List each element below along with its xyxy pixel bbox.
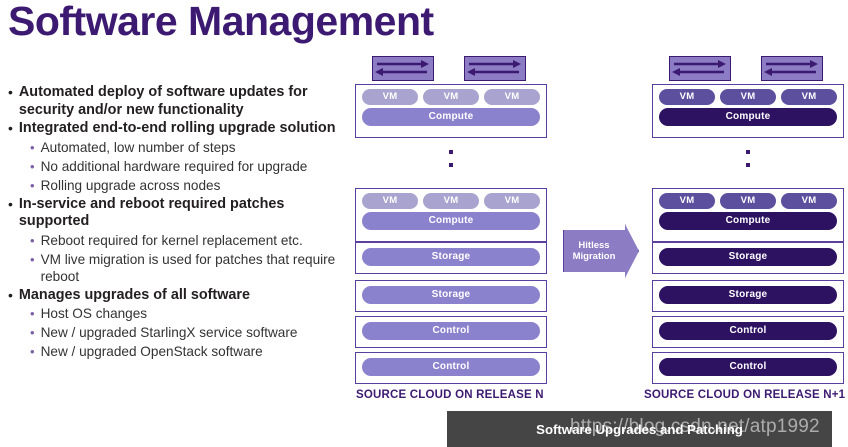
storage-bar: Storage bbox=[659, 248, 837, 266]
node-control: Control bbox=[652, 316, 844, 348]
vm-pill: VM bbox=[720, 193, 776, 209]
hitless-migration-line1: Hitless bbox=[578, 240, 609, 251]
compute-bar: Compute bbox=[362, 108, 540, 126]
node-compute: VMVMVMCompute bbox=[355, 84, 547, 138]
node-storage: Storage bbox=[355, 280, 547, 312]
bidirectional-arrow-icon bbox=[762, 57, 820, 79]
node-storage: Storage bbox=[652, 280, 844, 312]
vm-pill: VM bbox=[423, 193, 479, 209]
traffic-arrows-left bbox=[355, 56, 551, 82]
storage-bar: Storage bbox=[362, 248, 540, 266]
vm-pill: VM bbox=[659, 193, 715, 209]
traffic-arrows-right bbox=[652, 56, 848, 82]
traffic-arrow-box-icon bbox=[669, 56, 731, 81]
control-bar: Control bbox=[362, 322, 540, 340]
footer-bar: Software Upgrades and Patching bbox=[447, 411, 832, 447]
vm-pill: VM bbox=[781, 193, 837, 209]
compute-bar: Compute bbox=[659, 212, 837, 230]
footer-title: Software Upgrades and Patching bbox=[447, 411, 832, 447]
vm-pill: VM bbox=[781, 89, 837, 105]
compute-bar: Compute bbox=[362, 212, 540, 230]
vm-row: VMVMVM bbox=[653, 85, 843, 105]
traffic-arrow-box-icon bbox=[761, 56, 823, 81]
bidirectional-arrow-icon bbox=[373, 57, 431, 79]
caption-source-cloud-release-n: SOURCE CLOUD ON RELEASE N bbox=[356, 389, 544, 401]
vm-pill: VM bbox=[484, 89, 540, 105]
node-control: Control bbox=[652, 352, 844, 384]
vm-pill: VM bbox=[362, 89, 418, 105]
node-storage: Storage bbox=[652, 242, 844, 274]
node-compute: VMVMVMCompute bbox=[652, 84, 844, 138]
control-bar: Control bbox=[362, 358, 540, 376]
software-upgrade-diagram: VMVMVMComputeVMVMVMComputeStorageStorage… bbox=[0, 0, 848, 447]
vm-row: VMVMVM bbox=[356, 85, 546, 105]
storage-bar: Storage bbox=[659, 286, 837, 304]
node-compute: VMVMVMCompute bbox=[652, 188, 844, 242]
vm-pill: VM bbox=[659, 89, 715, 105]
compute-bar: Compute bbox=[659, 108, 837, 126]
vm-row: VMVMVM bbox=[653, 189, 843, 209]
node-control: Control bbox=[355, 316, 547, 348]
vm-pill: VM bbox=[720, 89, 776, 105]
node-compute: VMVMVMCompute bbox=[355, 188, 547, 242]
traffic-arrow-box-icon bbox=[464, 56, 526, 81]
node-storage: Storage bbox=[355, 242, 547, 274]
bidirectional-arrow-icon bbox=[465, 57, 523, 79]
storage-bar: Storage bbox=[362, 286, 540, 304]
hitless-migration-arrow: Hitless Migration bbox=[563, 224, 639, 278]
caption-source-cloud-release-n-plus-1: SOURCE CLOUD ON RELEASE N+1 bbox=[644, 389, 845, 401]
node-control: Control bbox=[355, 352, 547, 384]
vm-pill: VM bbox=[484, 193, 540, 209]
bidirectional-arrow-icon bbox=[670, 57, 728, 79]
vm-pill: VM bbox=[362, 193, 418, 209]
vm-pill: VM bbox=[423, 89, 479, 105]
vm-row: VMVMVM bbox=[356, 189, 546, 209]
hitless-migration-line2: Migration bbox=[573, 251, 616, 262]
node-continuation-dots bbox=[652, 150, 844, 176]
control-bar: Control bbox=[659, 358, 837, 376]
control-bar: Control bbox=[659, 322, 837, 340]
node-continuation-dots bbox=[355, 150, 547, 176]
traffic-arrow-box-icon bbox=[372, 56, 434, 81]
